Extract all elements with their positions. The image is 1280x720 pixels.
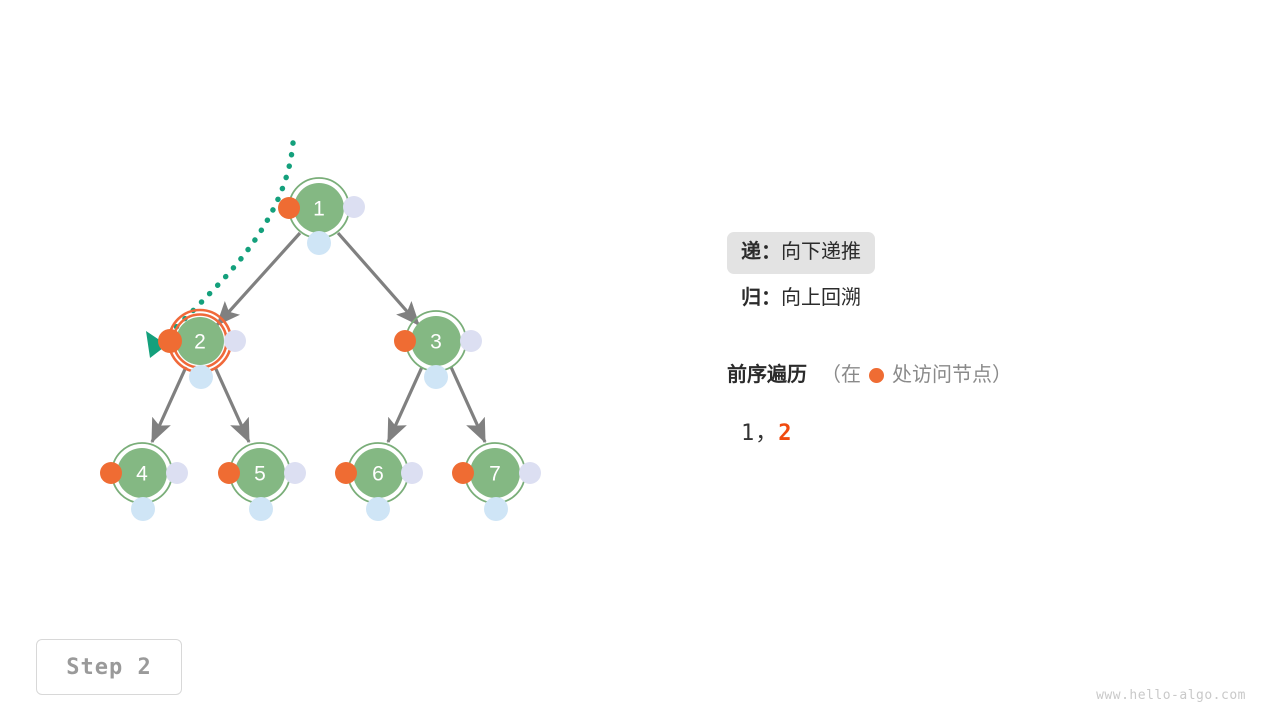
node-4-label: 4 bbox=[136, 463, 148, 486]
node-1-right-dot-icon bbox=[343, 196, 365, 218]
node-4-visit-dot-icon bbox=[100, 462, 122, 484]
node-6-right-dot-icon bbox=[401, 462, 423, 484]
sequence-current: 2 bbox=[778, 421, 792, 446]
traversal-name: 前序遍历 bbox=[727, 365, 807, 385]
edge-1-2 bbox=[217, 233, 300, 325]
node-4-bottom-dot-icon bbox=[131, 497, 155, 521]
node-3-visit-dot-icon bbox=[394, 330, 416, 352]
binary-tree-graphic: 1 2 3 4 bbox=[0, 0, 1280, 720]
node-3-bottom-dot-icon bbox=[424, 365, 448, 389]
node-1-bottom-dot-icon bbox=[307, 231, 331, 255]
diagram-canvas: 1 2 3 4 bbox=[0, 0, 1280, 720]
tree-node-2[interactable]: 2 bbox=[158, 310, 246, 389]
tree-node-4[interactable]: 4 bbox=[100, 443, 188, 521]
node-3-right-dot-icon bbox=[460, 330, 482, 352]
node-2-right-dot-icon bbox=[224, 330, 246, 352]
node-2-visit-dot-icon bbox=[158, 329, 182, 353]
edge-2-4 bbox=[152, 367, 186, 442]
node-7-bottom-dot-icon bbox=[484, 497, 508, 521]
legend-recurse-keyword: 递： bbox=[741, 241, 781, 263]
node-1-label: 1 bbox=[313, 198, 325, 221]
node-5-bottom-dot-icon bbox=[249, 497, 273, 521]
sequence-visited: 1， bbox=[741, 421, 778, 446]
legend-recurse-text: 向下递推 bbox=[781, 241, 861, 263]
node-6-label: 6 bbox=[372, 463, 384, 486]
edge-2-5 bbox=[215, 367, 249, 442]
node-6-visit-dot-icon bbox=[335, 462, 357, 484]
node-1-visit-dot-icon bbox=[278, 197, 300, 219]
legend-return-text: 向上回溯 bbox=[781, 287, 861, 309]
node-5-right-dot-icon bbox=[284, 462, 306, 484]
traversal-title: 前序遍历 （在 处访问节点） bbox=[727, 365, 1012, 385]
annotation-panel: 递：向下递推 归：向上回溯 前序遍历 （在 处访问节点） 1，2 bbox=[727, 232, 1247, 320]
node-3-label: 3 bbox=[430, 331, 442, 354]
step-badge: Step 2 bbox=[36, 639, 182, 695]
tree-node-6[interactable]: 6 bbox=[335, 443, 423, 521]
node-5-visit-dot-icon bbox=[218, 462, 240, 484]
node-7-visit-dot-icon bbox=[452, 462, 474, 484]
node-2-label: 2 bbox=[194, 331, 206, 354]
edge-3-7 bbox=[451, 367, 485, 442]
node-2-bottom-dot-icon bbox=[189, 365, 213, 389]
edge-3-6 bbox=[388, 367, 422, 442]
watermark: www.hello-algo.com bbox=[1096, 688, 1246, 703]
node-7-right-dot-icon bbox=[519, 462, 541, 484]
tree-node-5[interactable]: 5 bbox=[218, 443, 306, 521]
legend-item-return: 归：向上回溯 bbox=[727, 278, 875, 320]
visit-dot-icon bbox=[869, 368, 884, 383]
legend-item-recurse: 递：向下递推 bbox=[727, 232, 875, 274]
legend-line-recurse-wrap: 递：向下递推 bbox=[727, 232, 1247, 274]
tree-node-3[interactable]: 3 bbox=[394, 311, 482, 389]
traversal-paren-open: （在 bbox=[821, 365, 861, 385]
recursion-dotted-curve bbox=[161, 143, 293, 341]
legend-return-keyword: 归： bbox=[741, 287, 781, 309]
node-6-bottom-dot-icon bbox=[366, 497, 390, 521]
edge-1-3 bbox=[338, 233, 419, 325]
legend-line-return-wrap: 归：向上回溯 bbox=[727, 278, 1247, 320]
node-7-label: 7 bbox=[489, 463, 501, 486]
node-5-label: 5 bbox=[254, 463, 266, 486]
traversal-paren-close: 处访问节点） bbox=[892, 365, 1012, 385]
recursion-path bbox=[146, 143, 293, 358]
step-badge-label: Step 2 bbox=[66, 655, 151, 680]
tree-node-7[interactable]: 7 bbox=[452, 443, 541, 521]
traversal-sequence: 1，2 bbox=[741, 415, 793, 447]
node-4-right-dot-icon bbox=[166, 462, 188, 484]
